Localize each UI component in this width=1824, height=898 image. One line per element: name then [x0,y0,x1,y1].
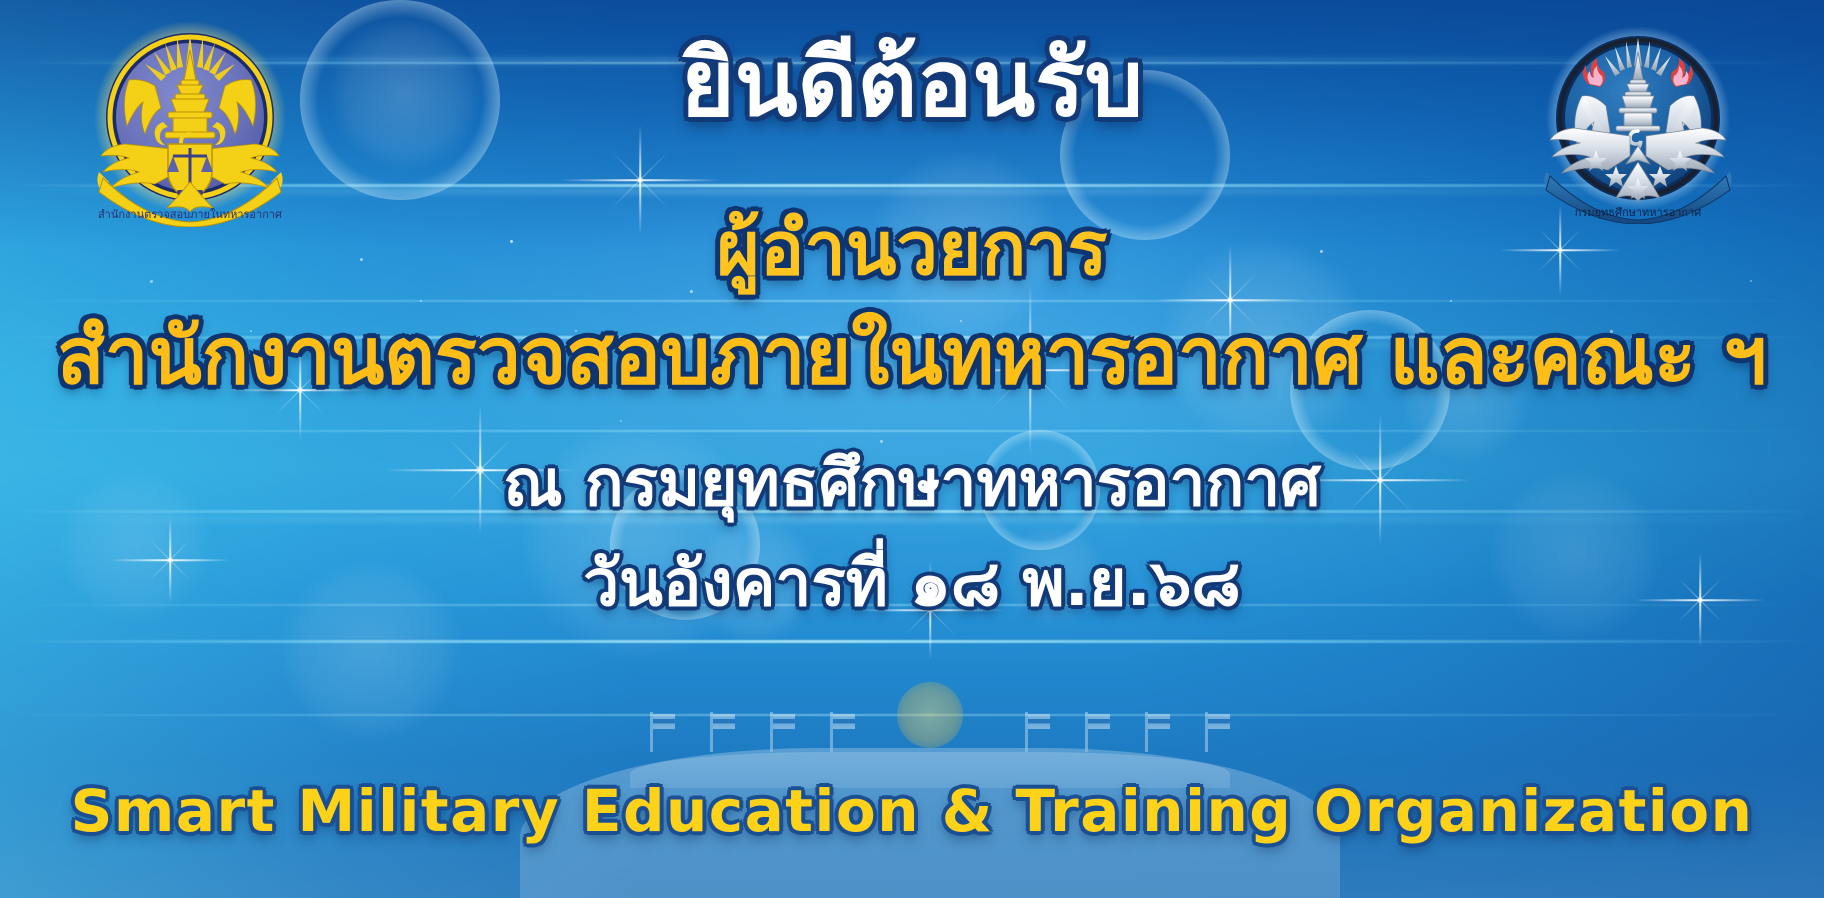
slogan-line: Smart Military Education & Training Orga… [0,782,1824,840]
date-line: วันอังคารที่ ๑๘ พ.ย.๖๘ [0,552,1824,616]
building-seal-icon [897,682,963,748]
star-dot [420,300,422,302]
star-dot [620,420,622,422]
star-dot [880,440,883,443]
venue-line: ณ กรมยุทธศึกษาทหารอากาศ [0,452,1824,516]
light-streak [0,430,1824,432]
light-streak [0,300,1824,302]
star-dot [1450,300,1452,302]
welcome-title: ยินดีต้อนรับ [0,38,1824,130]
guest-position-line: ผู้อำนวยการ [0,212,1824,286]
star-dot [690,290,693,293]
welcome-banner: สำนักงานตรวจสอบภายในทหารอากาศ [0,0,1824,898]
organization-line: สำนักงานตรวจสอบภายในทหารอากาศ และคณะ ฯ [0,318,1824,396]
light-streak [0,640,1824,643]
